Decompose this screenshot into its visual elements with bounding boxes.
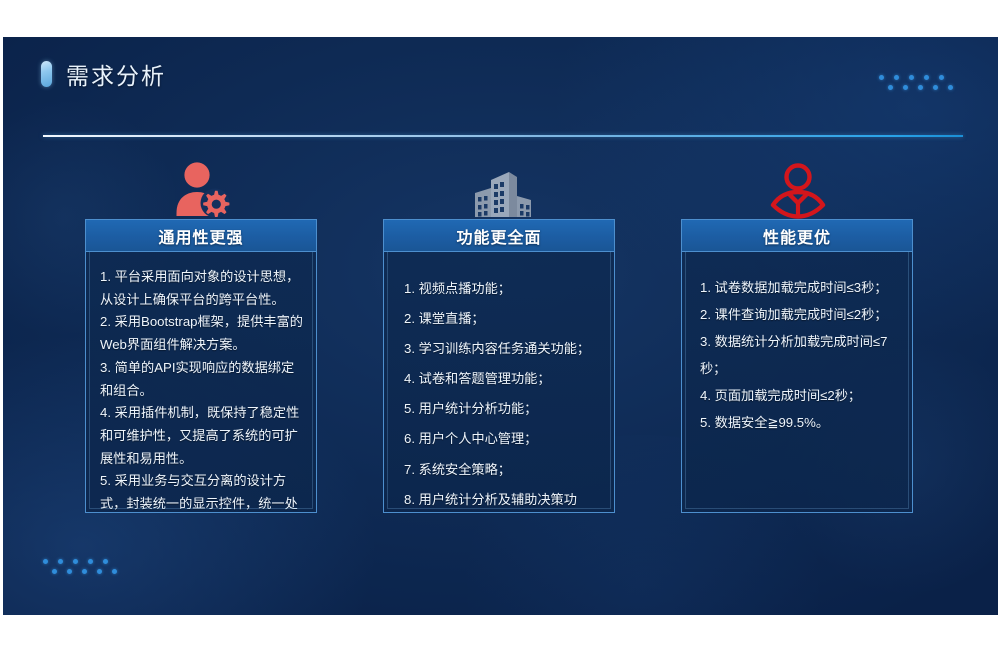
dot — [918, 85, 923, 90]
card-line: 3. 学习训练内容任务通关功能； — [404, 334, 602, 364]
card-body: 1. 视频点播功能； 2. 课堂直播； 3. 学习训练内容任务通关功能； 4. … — [383, 252, 615, 513]
card-line: 7. 系统安全策略； — [404, 455, 602, 485]
businessman-outline-icon — [768, 161, 828, 219]
dot — [888, 85, 893, 90]
card-line: 5. 采用业务与交互分离的设计方式，封装统一的显示控件，统一处理模型数据的加载、… — [100, 470, 304, 513]
dot-row — [888, 85, 953, 90]
dot — [112, 569, 117, 574]
header-divider — [43, 135, 963, 137]
dot — [909, 75, 914, 80]
card-title: 性能更优 — [763, 224, 831, 248]
dot-row — [879, 75, 953, 80]
card-body: 1. 试卷数据加载完成时间≤3秒； 2. 课件查询加载完成时间≤2秒； 3. 数… — [681, 252, 913, 513]
dot-row — [43, 559, 117, 564]
card-line: 4. 页面加载完成时间≤2秒； — [700, 382, 900, 409]
card-line: 2. 采用Bootstrap框架，提供丰富的Web界面组件解决方案。 — [100, 311, 304, 356]
card-generality: 通用性更强 1. 平台采用面向对象的设计思想，从设计上确保平台的跨平台性。 2.… — [85, 219, 317, 513]
user-gear-icon — [171, 161, 233, 219]
icon-slot-performance — [683, 147, 913, 219]
dot — [97, 569, 102, 574]
card-line: 1. 平台采用面向对象的设计思想，从设计上确保平台的跨平台性。 — [100, 266, 304, 311]
card-line: 2. 课件查询加载完成时间≤2秒； — [700, 301, 900, 328]
decor-dots-top-right — [879, 75, 953, 90]
card-performance: 性能更优 1. 试卷数据加载完成时间≤3秒； 2. 课件查询加载完成时间≤2秒；… — [681, 219, 913, 513]
page-title: 需求分析 — [41, 57, 166, 91]
card-line: 1. 视频点播功能； — [404, 274, 602, 304]
dot — [88, 559, 93, 564]
card-header: 功能更全面 — [383, 219, 615, 252]
dot — [939, 75, 944, 80]
decor-dots-bottom-left — [43, 559, 117, 574]
dot — [948, 85, 953, 90]
dot — [103, 559, 108, 564]
card-title: 功能更全面 — [456, 224, 541, 248]
dot-row — [52, 569, 117, 574]
dot — [58, 559, 63, 564]
dot — [894, 75, 899, 80]
card-line: 6. 用户个人中心管理； — [404, 424, 602, 454]
card-features: 功能更全面 1. 视频点播功能； 2. 课堂直播； 3. 学习训练内容任务通关功… — [383, 219, 615, 513]
dot — [933, 85, 938, 90]
icon-row — [3, 147, 998, 219]
dot — [924, 75, 929, 80]
card-line: 3. 数据统计分析加载完成时间≤7秒； — [700, 328, 900, 382]
dot — [43, 559, 48, 564]
card-body: 1. 平台采用面向对象的设计思想，从设计上确保平台的跨平台性。 2. 采用Boo… — [85, 252, 317, 513]
card-line: 4. 试卷和答题管理功能； — [404, 364, 602, 394]
card-line: 1. 试卷数据加载完成时间≤3秒； — [700, 274, 900, 301]
cards-row: 通用性更强 1. 平台采用面向对象的设计思想，从设计上确保平台的跨平台性。 2.… — [3, 219, 998, 519]
card-line: 3. 简单的API实现响应的数据绑定和组合。 — [100, 357, 304, 402]
card-line: 5. 用户统计分析功能； — [404, 394, 602, 424]
icon-slot-generality — [87, 147, 317, 219]
dot — [879, 75, 884, 80]
card-line: 8. 用户统计分析及辅助决策功能。 — [404, 485, 602, 513]
card-line: 2. 课堂直播； — [404, 304, 602, 334]
card-line: 4. 采用插件机制，既保持了稳定性和可维护性，又提高了系统的可扩展性和易用性。 — [100, 402, 304, 470]
dot — [73, 559, 78, 564]
slide-canvas: 需求分析 — [0, 0, 1000, 667]
page-title-label: 需求分析 — [66, 57, 166, 91]
card-title: 通用性更强 — [158, 224, 243, 248]
dot — [52, 569, 57, 574]
slide-header: 需求分析 — [3, 37, 998, 119]
city-buildings-icon — [467, 163, 533, 219]
card-header: 通用性更强 — [85, 219, 317, 252]
dot — [903, 85, 908, 90]
pill-marker-icon — [41, 61, 52, 87]
slide: 需求分析 — [3, 37, 998, 615]
card-line: 5. 数据安全≧99.5%。 — [700, 409, 900, 436]
icon-slot-features — [385, 147, 615, 219]
card-header: 性能更优 — [681, 219, 913, 252]
dot — [82, 569, 87, 574]
dot — [67, 569, 72, 574]
